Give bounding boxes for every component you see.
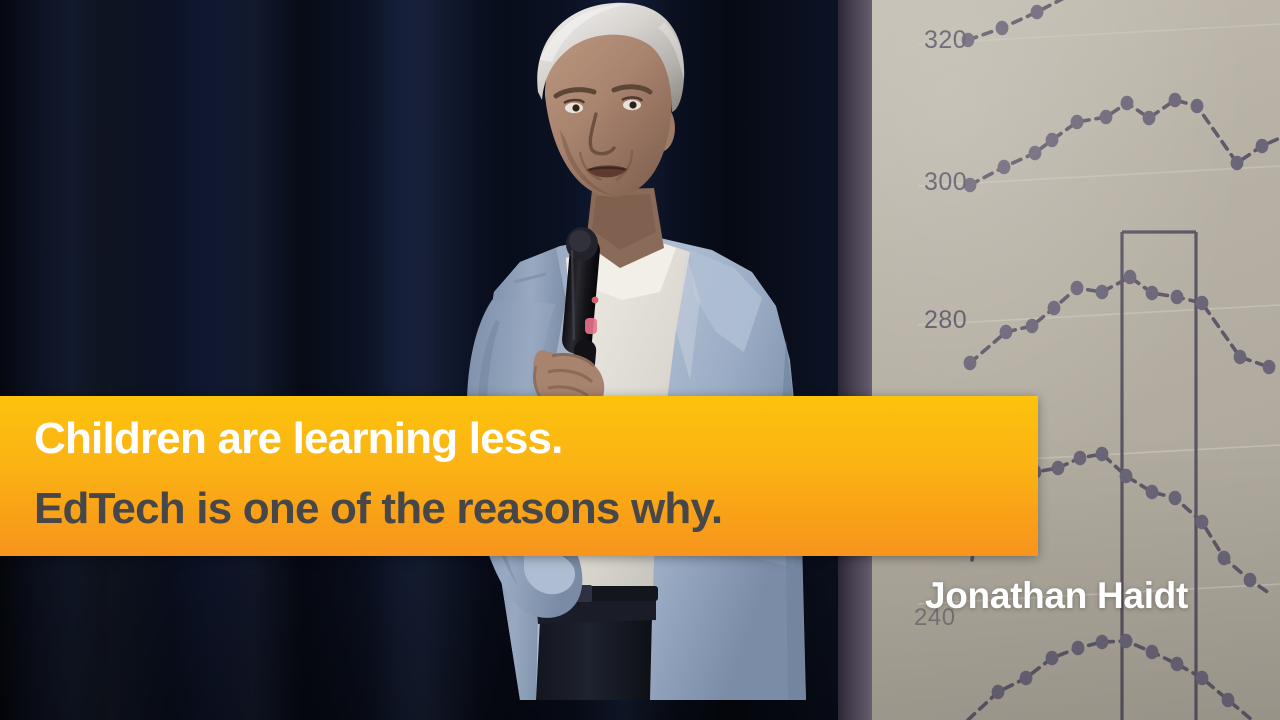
video-frame: 320 300 280 240 — [0, 0, 1280, 720]
speaker-name-label: Jonathan Haidt — [925, 575, 1188, 617]
speaker-head — [537, 3, 684, 197]
caption-line-1: Children are learning less. — [34, 414, 563, 464]
caption-line-2: EdTech is one of the reasons why. — [34, 484, 722, 534]
